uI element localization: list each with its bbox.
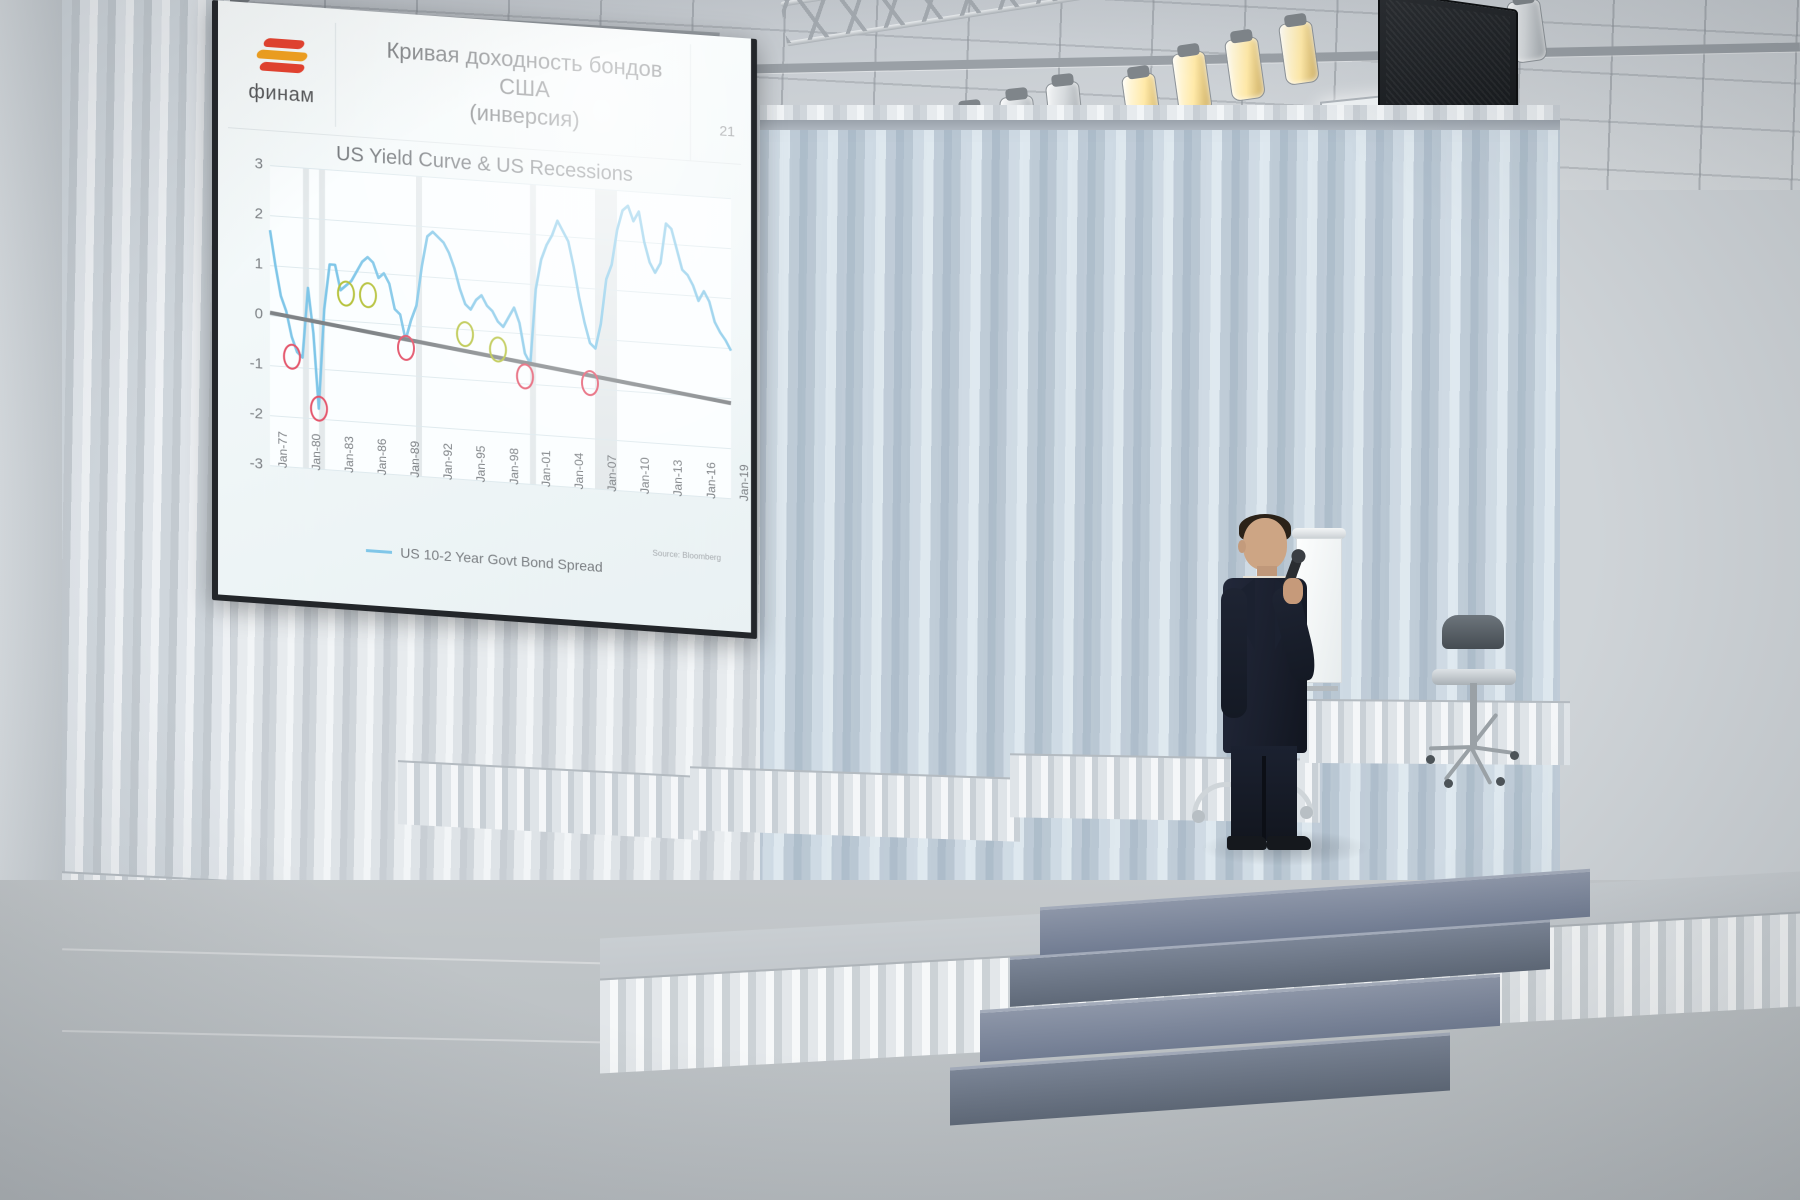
chart-y-tick-label: 3 (255, 155, 263, 173)
chart-legend: US 10-2 Year Govt Bond Spread (232, 532, 737, 584)
chart-annotation-ellipse (310, 395, 328, 422)
chart-annotation-ellipse (397, 334, 415, 361)
slide-title: Кривая доходность бондов США (инверсия) (368, 35, 681, 142)
chair-caster (1444, 779, 1453, 788)
chart-series-line (270, 180, 731, 438)
chart-y-tick-label: -3 (250, 455, 263, 473)
shoe-right (1267, 836, 1311, 850)
head (1243, 518, 1287, 570)
presenter (1205, 518, 1325, 853)
chart-series-svg (270, 165, 731, 498)
slide-page-number: 21 (719, 122, 735, 139)
conference-hall-scene: финам Кривая доходность бондов США (инве… (0, 0, 1800, 1200)
header-divider-vertical (690, 44, 691, 160)
finam-ribbon-logo-icon (254, 34, 310, 82)
chart-y-tick-label: -2 (250, 405, 263, 423)
projection-screen: финам Кривая доходность бондов США (инве… (212, 0, 757, 639)
brand-name: финам (248, 80, 314, 108)
chair-caster (1496, 777, 1505, 786)
trousers (1231, 746, 1297, 841)
chair-caster (1426, 755, 1435, 764)
legend-label: US 10-2 Year Govt Bond Spread (400, 544, 602, 575)
shoe-left (1227, 836, 1267, 850)
presentation-slide: финам Кривая доходность бондов США (инве… (218, 0, 751, 632)
chart-y-tick-label: 2 (255, 205, 263, 223)
hand (1283, 578, 1303, 604)
chart-x-tick-label: Jan-19 (737, 464, 751, 502)
chart-annotation-ellipse (283, 343, 301, 370)
chart-y-tick-label: 1 (255, 255, 263, 273)
chart-annotation-ellipse (581, 369, 599, 396)
chair-wheel (1192, 810, 1205, 823)
chart-source-note: Source: Bloomberg (653, 549, 721, 563)
chart-annotation-ellipse (359, 281, 377, 308)
stage-steps (950, 880, 1590, 1200)
arm-left (1221, 588, 1247, 718)
chart-annotation-ellipse (489, 335, 507, 362)
chart-y-tick-label: -1 (250, 355, 263, 373)
ear (1238, 540, 1246, 553)
chair-base (1430, 743, 1516, 777)
chair-backrest (1442, 615, 1504, 649)
office-chair (1424, 615, 1520, 785)
chart-container: US Yield Curve & US Recessions 3210-1-2-… (232, 135, 737, 571)
brand-logo: финам (228, 15, 336, 127)
curtain-hem (690, 766, 1020, 842)
chart-y-tick-label: 0 (255, 305, 263, 323)
legend-swatch (366, 549, 392, 554)
wall-left-edge (0, 0, 62, 1030)
chair-caster (1510, 751, 1519, 760)
chart-plot-area: 3210-1-2-3Jan-77Jan-80Jan-83Jan-86Jan-89… (270, 165, 731, 498)
